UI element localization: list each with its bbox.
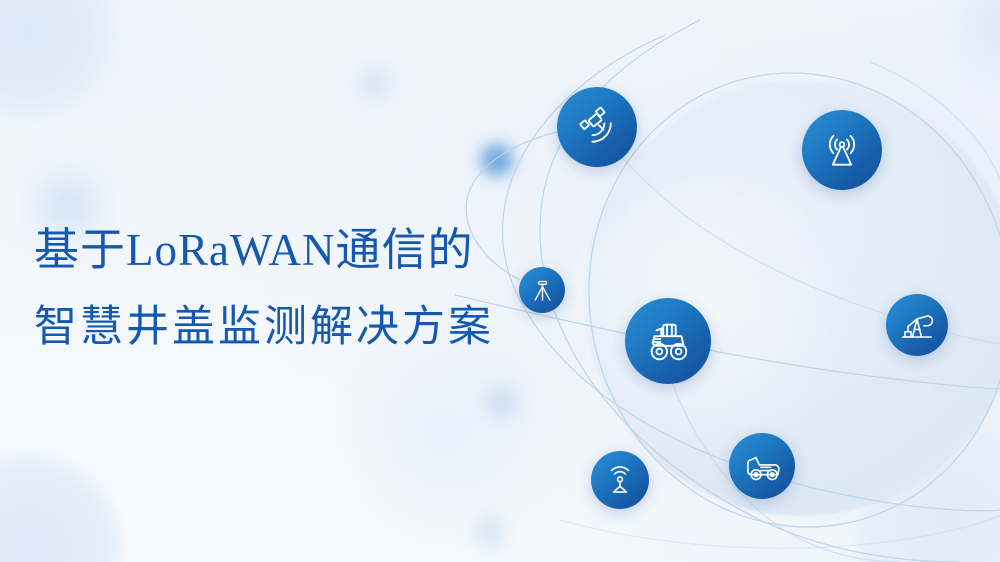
satellite-icon	[575, 105, 619, 149]
decor-blob-bottom-right	[858, 430, 1000, 562]
node-wireless-sensor[interactable]	[591, 451, 649, 509]
node-oil-pumpjack[interactable]	[886, 294, 948, 356]
node-tractor[interactable]	[625, 298, 711, 384]
page-title-line-1: 基于LoRaWAN通信的	[34, 228, 594, 273]
radio-tower-icon	[820, 128, 864, 172]
decor-sphere	[584, 80, 1000, 516]
node-satellite[interactable]	[557, 87, 637, 167]
mining-truck-icon	[743, 447, 782, 486]
page-title-line-2: 智慧井盖监测解决方案	[34, 306, 594, 349]
node-radio-tower[interactable]	[802, 110, 882, 190]
decor-blob-left-lower	[0, 452, 124, 562]
wireless-sensor-icon	[603, 463, 637, 497]
tractor-icon	[643, 316, 693, 366]
title-block: 基于LoRaWAN通信的 智慧井盖监测解决方案	[34, 228, 594, 349]
decor-dot-mid-left	[476, 139, 518, 181]
decor-blob-center-soft	[330, 318, 560, 548]
decor-blob-top-left	[0, 0, 118, 122]
node-mining-truck[interactable]	[729, 433, 795, 499]
decor-dot-bottom-right	[912, 464, 964, 516]
decor-dot-bottom-mid	[470, 512, 510, 552]
decor-dot-top-mid	[352, 60, 398, 106]
decor-sphere-highlight	[560, 180, 860, 480]
oil-pumpjack-icon	[899, 307, 935, 343]
slide-canvas: 基于LoRaWAN通信的 智慧井盖监测解决方案	[0, 0, 1000, 562]
decor-dot-lower-left	[480, 380, 524, 424]
decor-blob-right-edge	[940, 0, 1000, 90]
